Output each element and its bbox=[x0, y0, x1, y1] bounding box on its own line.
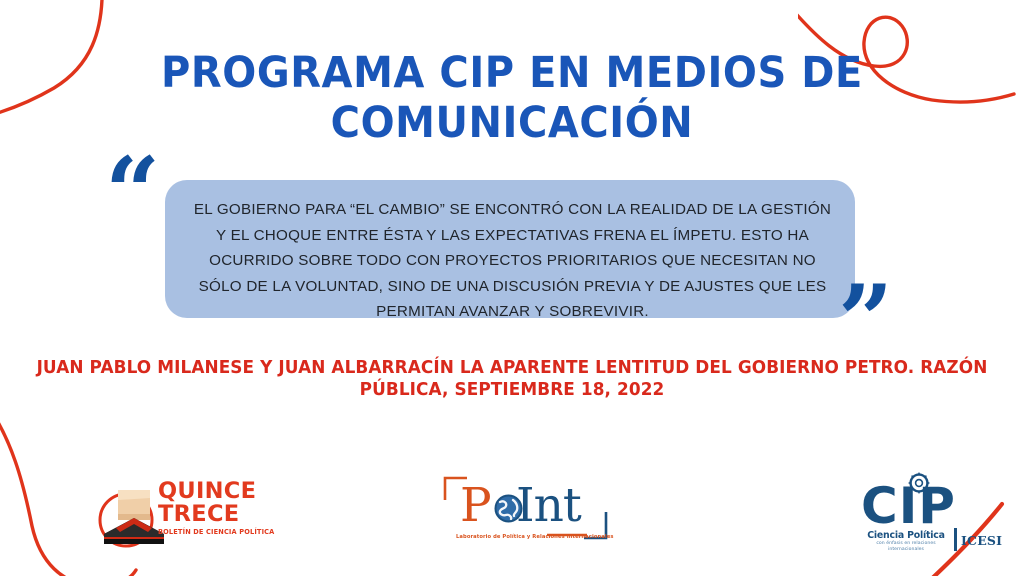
opening-quote-mark: “ bbox=[105, 145, 158, 241]
quote-text: EL GOBIERNO PARA “EL CAMBIO” SE ENCONTRÓ… bbox=[190, 197, 835, 325]
quince-trece-line-1: QUINCE bbox=[158, 480, 292, 503]
logo-row: QUINCE TRECE BOLETÍN DE CIENCIA POLÍTICA… bbox=[0, 472, 1024, 568]
quince-trece-line-2: TRECE bbox=[158, 503, 292, 526]
quince-trece-wordmark: QUINCE TRECE BOLETÍN DE CIENCIA POLÍTICA bbox=[158, 480, 292, 537]
page-title: PROGRAMA CIP EN MEDIOS DE COMUNICACIÓN bbox=[36, 48, 988, 148]
cip-subtitle-main: Ciencia Política bbox=[861, 530, 951, 541]
cip-subtitle-small: con énfasis en relaciones internacionale… bbox=[861, 541, 951, 552]
point-underline-rule bbox=[547, 530, 589, 540]
quote-attribution: JUAN PABLO MILANESE Y JUAN ALBARRACÍN LA… bbox=[15, 357, 1008, 401]
cip-divider bbox=[954, 528, 957, 551]
presentation-slide: PROGRAMA CIP EN MEDIOS DE COMUNICACIÓN “… bbox=[0, 0, 1024, 576]
globe-icon bbox=[494, 494, 523, 523]
logo-cip: CIP Ciencia Política con énfasis en rela… bbox=[855, 468, 987, 560]
logo-quince-trece: QUINCE TRECE BOLETÍN DE CIENCIA POLÍTICA bbox=[92, 474, 292, 558]
cip-university-name: ICESI bbox=[961, 533, 1002, 548]
point-letters-int: Int bbox=[516, 478, 581, 533]
point-subtitle: Laboratorio de Política y Relaciones Int… bbox=[456, 534, 614, 540]
point-letter-p: P bbox=[460, 478, 489, 533]
quince-trece-subtitle: BOLETÍN DE CIENCIA POLÍTICA bbox=[158, 528, 292, 537]
cip-subtitle-group: Ciencia Política con énfasis en relacion… bbox=[861, 530, 951, 552]
cip-wordmark: CIP bbox=[861, 480, 956, 532]
closing-quote-mark: ” bbox=[838, 273, 891, 369]
logo-point: PoInt Laboratorio de Política y Relacion… bbox=[443, 472, 609, 556]
